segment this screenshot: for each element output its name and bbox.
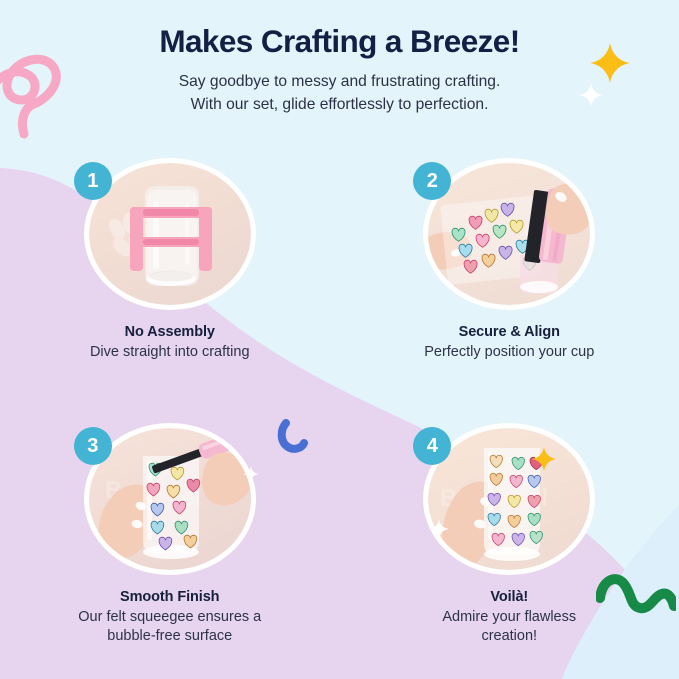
four-point-star-icon <box>589 42 631 84</box>
step-1-title: No Assembly <box>20 324 320 340</box>
step-2-photo: el <box>428 163 590 305</box>
step-3-desc-line-1: Our felt squeegee ensures a <box>78 609 261 625</box>
step-2-photo-wrap: el <box>423 158 595 310</box>
sparkle-icon <box>578 82 604 108</box>
step-1-caption: No Assembly Dive straight into crafting <box>20 324 320 362</box>
step-1-photo: el <box>89 163 251 305</box>
step-2-photo-art: el <box>428 163 590 305</box>
step-1-description: Dive straight into crafting <box>20 343 320 362</box>
ribbon-swirl-icon <box>0 38 78 142</box>
four-point-star-small-icon <box>531 446 557 472</box>
crescent-comma-icon <box>276 418 312 454</box>
step-3-photo-wrap: Bel <box>84 423 256 575</box>
step-1-photo-art: el <box>89 163 251 305</box>
step-2-title: Secure & Align <box>359 324 659 340</box>
step-2-number-badge: 2 <box>413 162 451 200</box>
page-title: Makes Crafting a Breeze! <box>0 0 679 59</box>
wave-squiggle-icon <box>596 562 676 624</box>
step-1-number-badge: 1 <box>74 162 112 200</box>
step-4-photo-wrap: Bel <box>423 423 595 575</box>
step-4-number-badge: 4 <box>413 427 451 465</box>
step-card-4: Bel <box>340 415 679 679</box>
step-2-caption: Secure & Align Perfectly position your c… <box>359 324 659 362</box>
step-4-desc-line-1: Admire your flawless <box>442 609 576 625</box>
step-3-number-badge: 3 <box>74 427 112 465</box>
step-3-title: Smooth Finish <box>20 589 320 605</box>
step-card-1: el <box>0 150 340 415</box>
step-3-photo: Bel <box>89 428 251 570</box>
step-3-description: Our felt squeegee ensures a bubble-free … <box>20 608 320 647</box>
step-3-photo-art: Bel <box>89 428 251 570</box>
steps-grid: el <box>0 150 679 679</box>
sparkle-small-icon <box>428 518 450 540</box>
sparkle-tiny-icon <box>242 465 260 483</box>
subtitle-line-1: Say goodbye to messy and frustrating cra… <box>179 73 501 90</box>
step-3-desc-line-2: bubble-free surface <box>107 628 232 644</box>
step-card-2: el <box>340 150 679 415</box>
step-4-photo: Bel <box>428 428 590 570</box>
infographic-canvas: Makes Crafting a Breeze! Say goodbye to … <box>0 0 679 679</box>
step-card-3: Bel <box>0 415 340 679</box>
step-4-photo-art: Bel <box>428 428 590 570</box>
step-1-photo-wrap: el <box>84 158 256 310</box>
step-4-desc-line-2: creation! <box>481 628 537 644</box>
step-1-desc-line-1: Dive straight into crafting <box>90 344 250 360</box>
step-3-caption: Smooth Finish Our felt squeegee ensures … <box>20 589 320 647</box>
step-2-desc-line-1: Perfectly position your cup <box>424 344 594 360</box>
step-2-description: Perfectly position your cup <box>359 343 659 362</box>
